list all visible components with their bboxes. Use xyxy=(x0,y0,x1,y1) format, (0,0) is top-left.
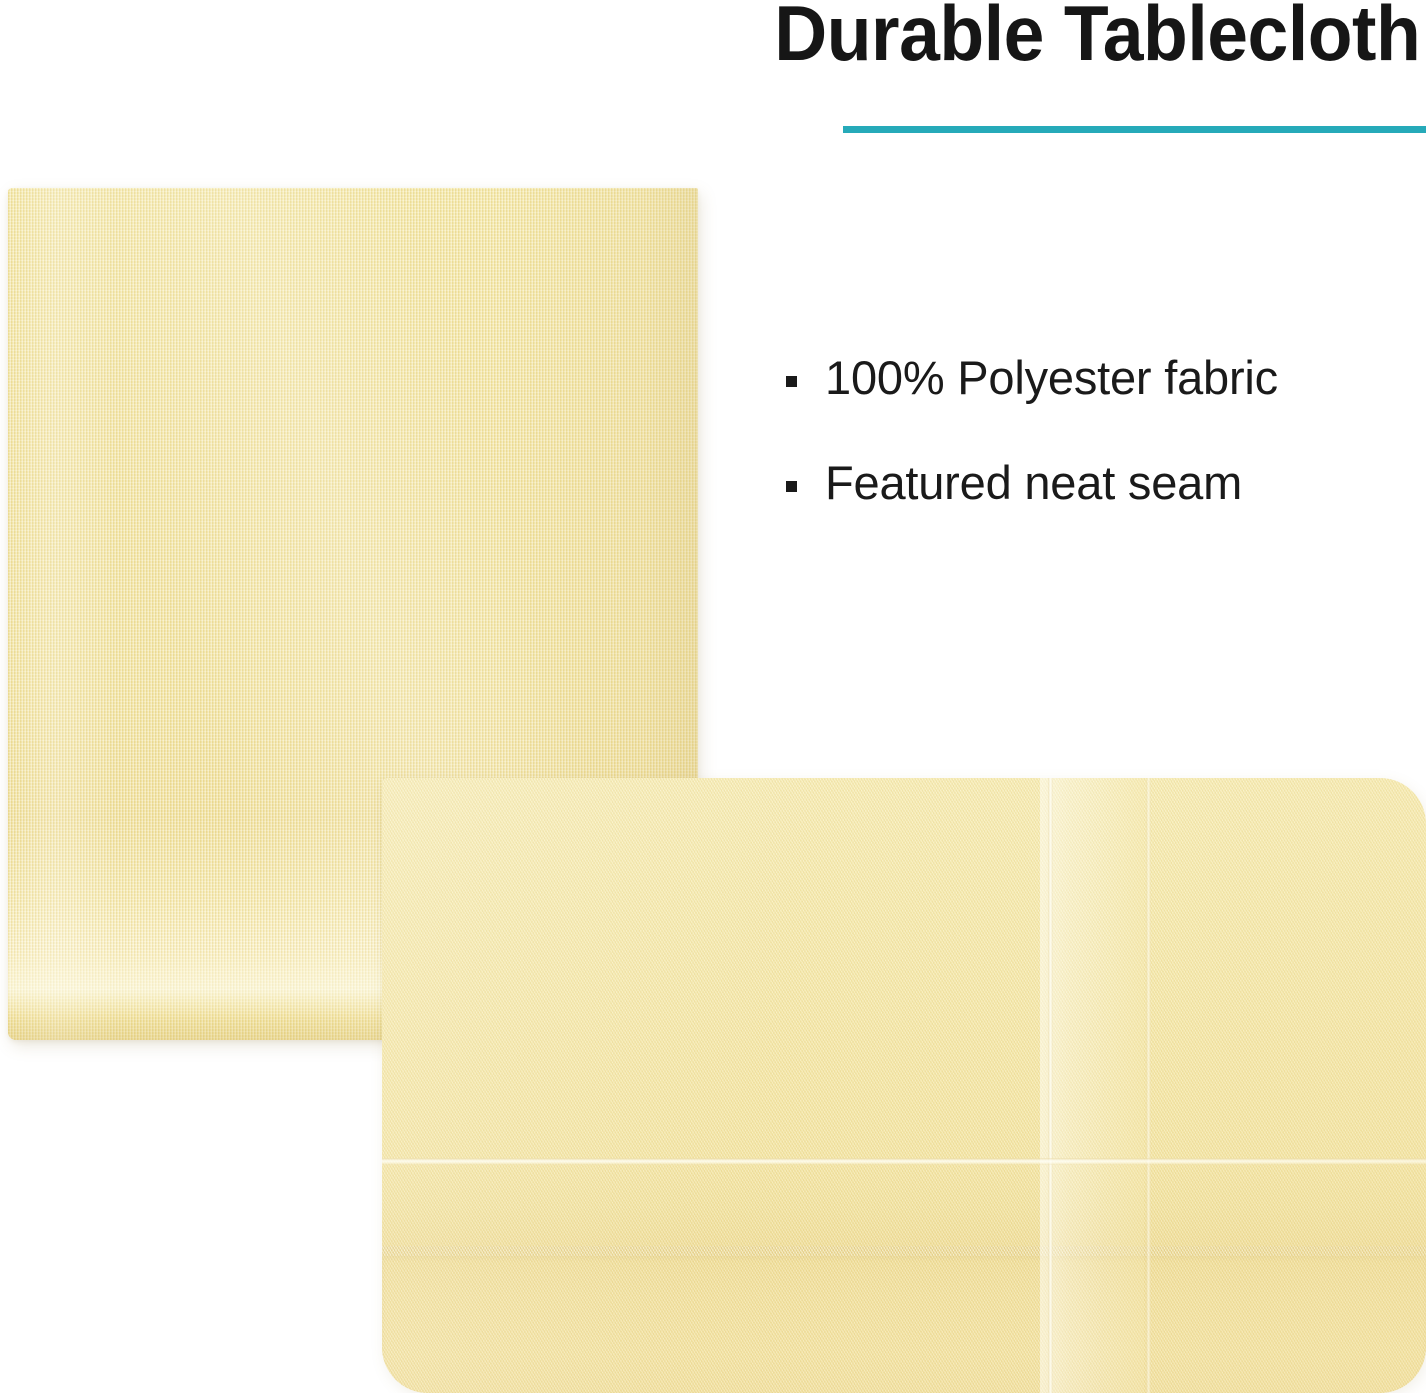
fabric-weave-texture xyxy=(382,1246,1426,1393)
title-accent-rule xyxy=(843,126,1426,133)
square-bullet-icon xyxy=(786,481,797,492)
hem-seam-horizontal xyxy=(382,1158,1426,1165)
feature-label: 100% Polyester fabric xyxy=(825,352,1278,405)
tablecloth-hem-detail-image xyxy=(382,778,1426,1393)
hem-seam-vertical-right xyxy=(1146,778,1151,1393)
square-bullet-icon xyxy=(786,376,797,387)
hem-seam-panel xyxy=(1040,778,1144,1393)
list-item: 100% Polyester fabric xyxy=(786,352,1396,405)
feature-label: Featured neat seam xyxy=(825,457,1242,510)
page-title: Durable Tablecloth xyxy=(774,0,1420,75)
fabric-under-layer xyxy=(382,1256,1426,1393)
feature-list: 100% Polyester fabric Featured neat seam xyxy=(786,352,1396,561)
hem-seam-vertical-left xyxy=(1048,778,1053,1393)
infographic-canvas: Durable Tablecloth 100% Polyester fabric… xyxy=(0,0,1426,1393)
list-item: Featured neat seam xyxy=(786,457,1396,510)
headline-block: Durable Tablecloth xyxy=(640,0,1426,150)
